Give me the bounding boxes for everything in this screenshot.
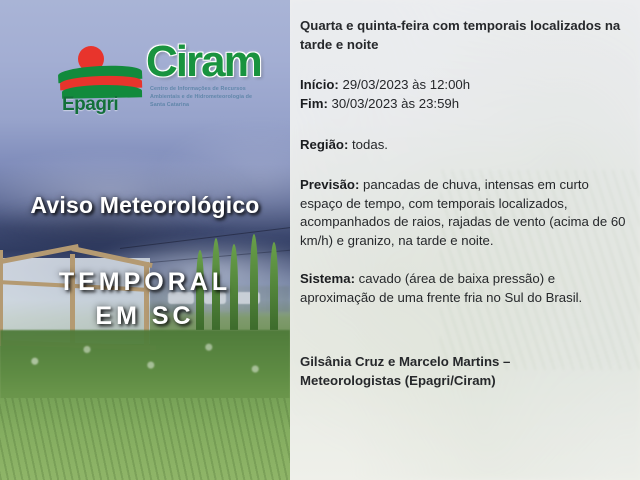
field-fim-value: 30/03/2023 às 23:59h: [328, 96, 459, 111]
field-inicio: Início: 29/03/2023 às 12:00h: [300, 76, 630, 95]
field-regiao: Região: todas.: [300, 136, 630, 155]
field-fim: Fim: 30/03/2023 às 23:59h: [300, 95, 630, 114]
flowering-shrubs: [0, 330, 290, 408]
field-sistema-label: Sistema:: [300, 271, 355, 286]
field-regiao-label: Região:: [300, 137, 348, 152]
signature-line-1: Gilsânia Cruz e Marcelo Martins –: [300, 352, 630, 371]
signature-block: Gilsânia Cruz e Marcelo Martins – Meteor…: [300, 352, 630, 390]
alert-period: Início: 29/03/2023 às 12:00h Fim: 30/03/…: [300, 76, 630, 113]
signature-line-2: Meteorologistas (Epagri/Ciram): [300, 371, 630, 390]
field-regiao-value: todas.: [348, 137, 388, 152]
field-inicio-label: Início:: [300, 77, 339, 92]
alert-details: Quarta e quinta-feira com temporais loca…: [300, 0, 640, 480]
alert-title-line-1: TEMPORAL: [0, 266, 290, 300]
alert-title: TEMPORAL EM SC: [0, 266, 290, 334]
logo-ciram-subtitle: Centro de Informações de Recursos Ambien…: [150, 86, 268, 109]
epagri-ciram-logo: Epagri Ciram Centro de Informações de Re…: [58, 44, 258, 110]
right-info-panel: Quarta e quinta-feira com temporais loca…: [290, 0, 640, 480]
alert-kicker: Aviso Meteorológico: [0, 192, 290, 219]
alert-headline: Quarta e quinta-feira com temporais loca…: [300, 17, 630, 54]
weather-alert-poster: Epagri Ciram Centro de Informações de Re…: [0, 0, 640, 480]
field-previsao: Previsão: pancadas de chuva, intensas em…: [300, 176, 630, 251]
field-sistema: Sistema: cavado (área de baixa pressão) …: [300, 270, 630, 307]
logo-ciram-wordmark: Ciram: [146, 40, 261, 84]
left-photo-panel: Epagri Ciram Centro de Informações de Re…: [0, 0, 290, 480]
field-previsao-label: Previsão:: [300, 177, 359, 192]
grass-lawn: [0, 398, 290, 480]
field-inicio-value: 29/03/2023 às 12:00h: [339, 77, 470, 92]
field-fim-label: Fim:: [300, 96, 328, 111]
logo-epagri-wordmark: Epagri: [62, 94, 118, 116]
alert-title-line-2: EM SC: [0, 300, 290, 334]
